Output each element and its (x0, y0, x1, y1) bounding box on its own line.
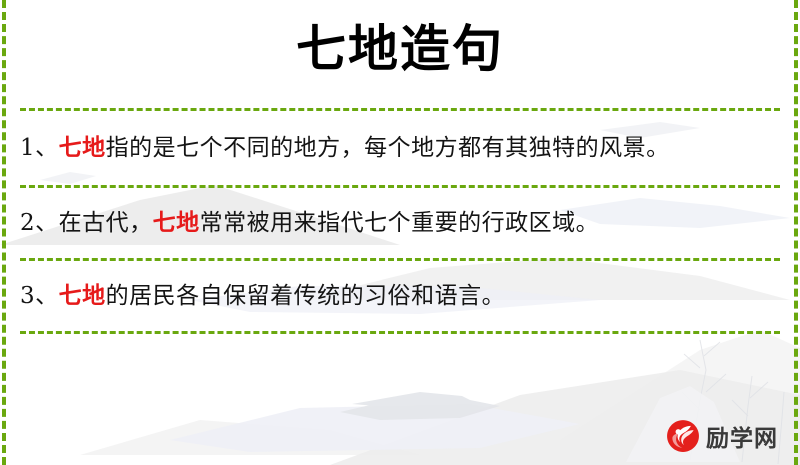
sentence-item-3: 3、七地的居民各自保留着传统的习俗和语言。 (0, 261, 800, 331)
sentence-item-1: 1、七地指的是七个不同的地方，每个地方都有其独特的风景。 (0, 111, 800, 185)
sentence-3-prefix: 3、 (20, 283, 59, 309)
divider-bottom (20, 331, 780, 334)
sentence-2-body: 常常被用来指代七个重要的行政区域。 (200, 210, 600, 236)
sentence-2-prefix: 2、在古代， (20, 210, 153, 236)
sentence-2-keyword: 七地 (153, 209, 200, 236)
red-swirl-flame-icon (666, 419, 700, 453)
sentence-list: 1、七地指的是七个不同的地方，每个地方都有其独特的风景。 2、在古代，七地常常被… (0, 108, 800, 334)
sentence-3-keyword: 七地 (59, 282, 106, 309)
page-root: 七地造句 1、七地指的是七个不同的地方，每个地方都有其独特的风景。 2、在古代，… (0, 0, 800, 465)
page-title: 七地造句 (0, 18, 800, 80)
sentence-1-prefix: 1、 (20, 135, 59, 161)
sentence-item-2: 2、在古代，七地常常被用来指代七个重要的行政区域。 (0, 188, 800, 258)
sentence-1-body: 指的是七个不同的地方，每个地方都有其独特的风景。 (106, 135, 670, 161)
site-logo[interactable]: 励学网 (666, 419, 778, 453)
site-logo-text: 励学网 (706, 419, 778, 453)
sentence-1-keyword: 七地 (59, 134, 106, 161)
sentence-3-body: 的居民各自保留着传统的习俗和语言。 (106, 283, 506, 309)
